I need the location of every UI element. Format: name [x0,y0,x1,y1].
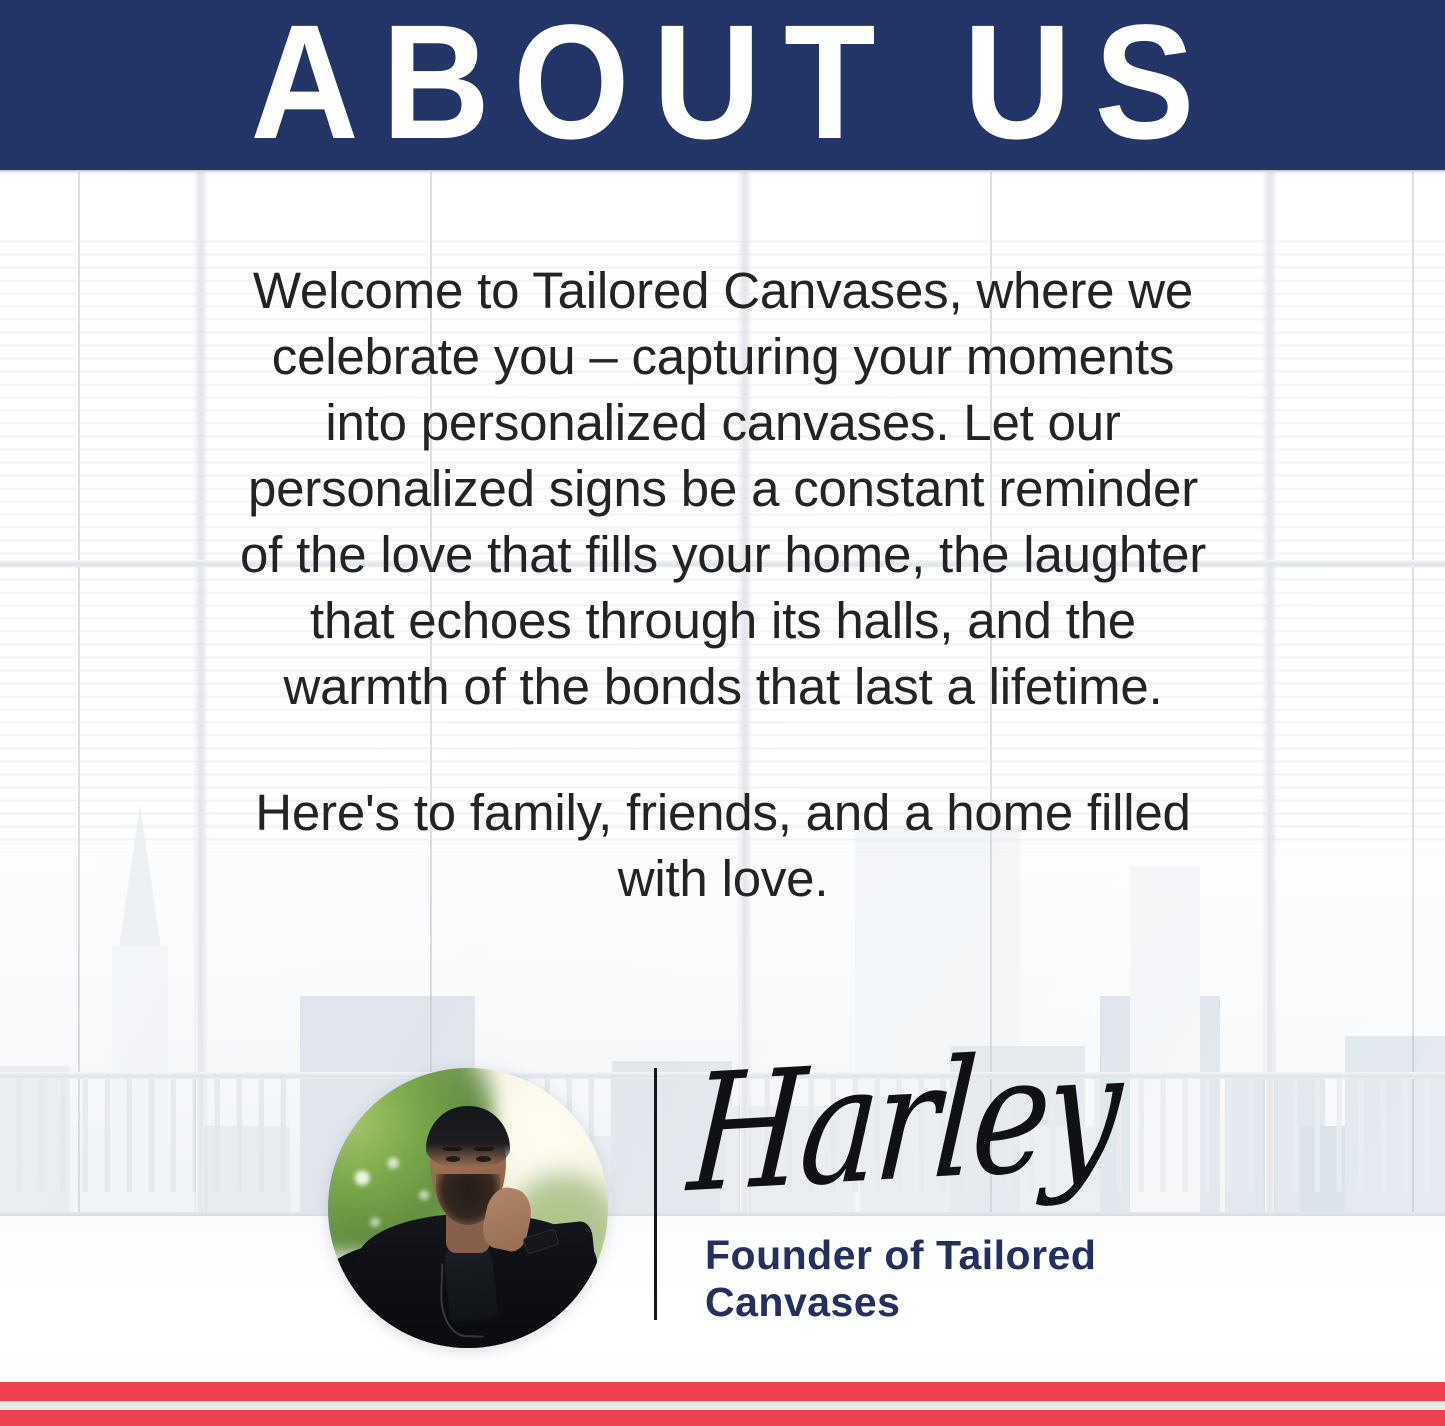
copy-line: Here's to family, friends, and a home fi… [178,780,1268,846]
signature-role: Founder of Tailored Canvases [705,1232,1175,1326]
paragraph-gap [178,720,1268,780]
about-us-page: ABOUT US Welcome to Tailored Canvases, w… [0,0,1445,1426]
copy-line: personalized signs be a constant reminde… [178,456,1268,522]
copy-line: with love. [178,846,1268,912]
footer-stripe-bottom [0,1410,1445,1426]
footer-stripe-gap [0,1401,1445,1410]
signature-divider [654,1068,657,1320]
copy-line: of the love that fills your home, the la… [178,522,1268,588]
signature-block: Harley Founder of Tailored Canvases [0,1040,1445,1340]
copy-line: Welcome to Tailored Canvases, where we [178,258,1268,324]
avatar [328,1068,608,1348]
copy-line: celebrate you – capturing your moments [178,324,1268,390]
copy-line: that echoes through its halls, and the [178,588,1268,654]
footer-stripe-top [0,1382,1445,1401]
founder-portrait-photo [328,1068,608,1348]
copy-line: into personalized canvases. Let our [178,390,1268,456]
copy-line: warmth of the bonds that last a lifetime… [178,654,1268,720]
signature-role-line-1: Founder of Tailored [705,1232,1175,1279]
page-title: ABOUT US [58,0,1387,166]
signature-name: Harley [684,1019,1123,1227]
about-body-copy: Welcome to Tailored Canvases, where we c… [178,258,1268,912]
header-banner: ABOUT US [0,0,1445,170]
header-shadow [0,170,1445,175]
signature-role-line-2: Canvases [705,1279,1175,1326]
